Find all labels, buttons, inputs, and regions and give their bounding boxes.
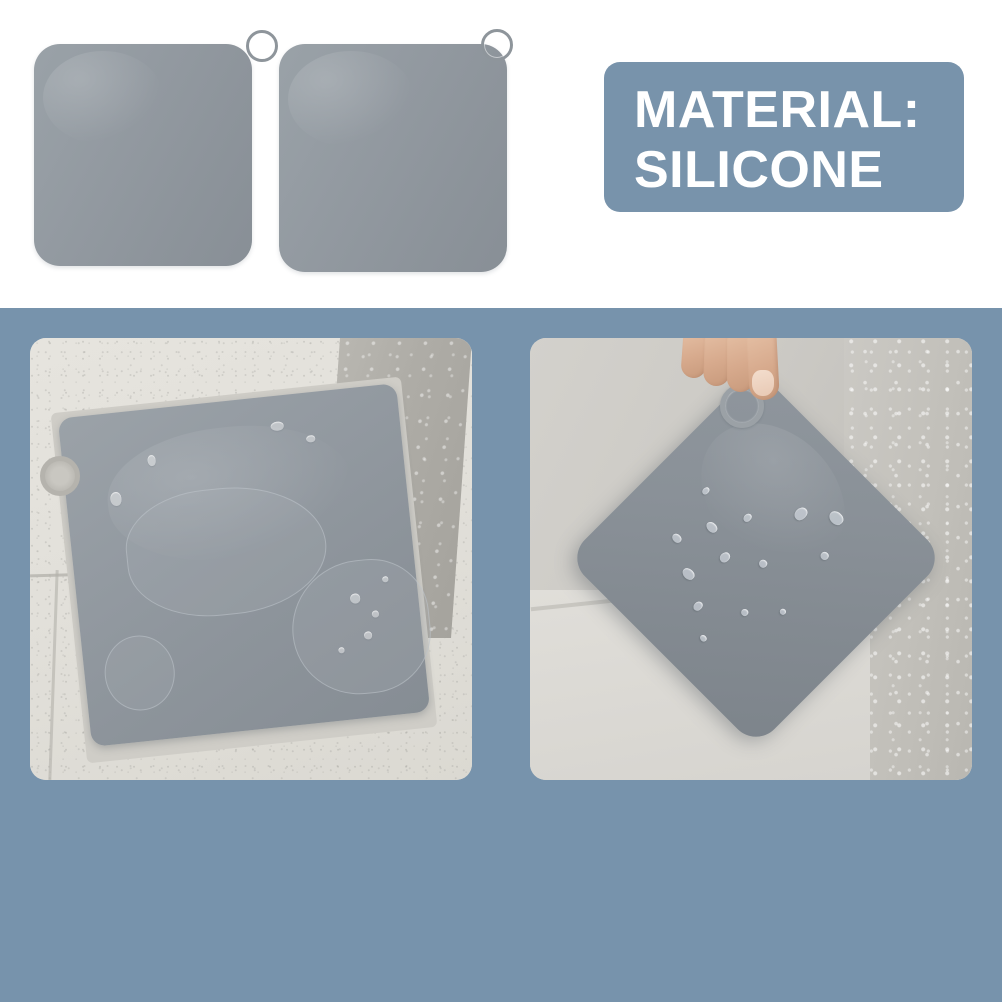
- water-film: [101, 632, 178, 714]
- hanging-ring-icon: [481, 29, 513, 61]
- material-badge: MATERIAL: SILICONE: [604, 62, 964, 212]
- drain-cover-ring: [40, 456, 80, 496]
- water-droplet: [306, 435, 316, 443]
- photo-drain-cover-on-floor: [30, 338, 472, 780]
- water-droplet: [740, 607, 750, 617]
- photo-hand-holding-cover: [530, 338, 972, 780]
- water-droplet: [718, 550, 732, 564]
- hand: [680, 338, 792, 410]
- feature-panel: Effectively prevent clogs in kitchen sin…: [0, 308, 1002, 1002]
- water-droplet: [692, 600, 705, 613]
- water-droplet: [778, 607, 786, 615]
- material-badge-line-2: SILICONE: [634, 140, 938, 200]
- silicone-cover: [58, 383, 431, 747]
- water-droplet: [699, 634, 708, 643]
- product-pad-right: [279, 44, 507, 272]
- water-droplet: [671, 531, 684, 544]
- hero-section: MATERIAL: SILICONE: [0, 0, 1002, 308]
- material-badge-line-1: MATERIAL:: [634, 80, 938, 140]
- fingernail: [752, 370, 774, 396]
- product-infographic: MATERIAL: SILICONE: [0, 0, 1002, 1002]
- water-droplet: [681, 566, 697, 582]
- water-droplet: [350, 593, 361, 604]
- hanging-ring-icon: [246, 30, 278, 62]
- product-pad-left: [34, 44, 252, 266]
